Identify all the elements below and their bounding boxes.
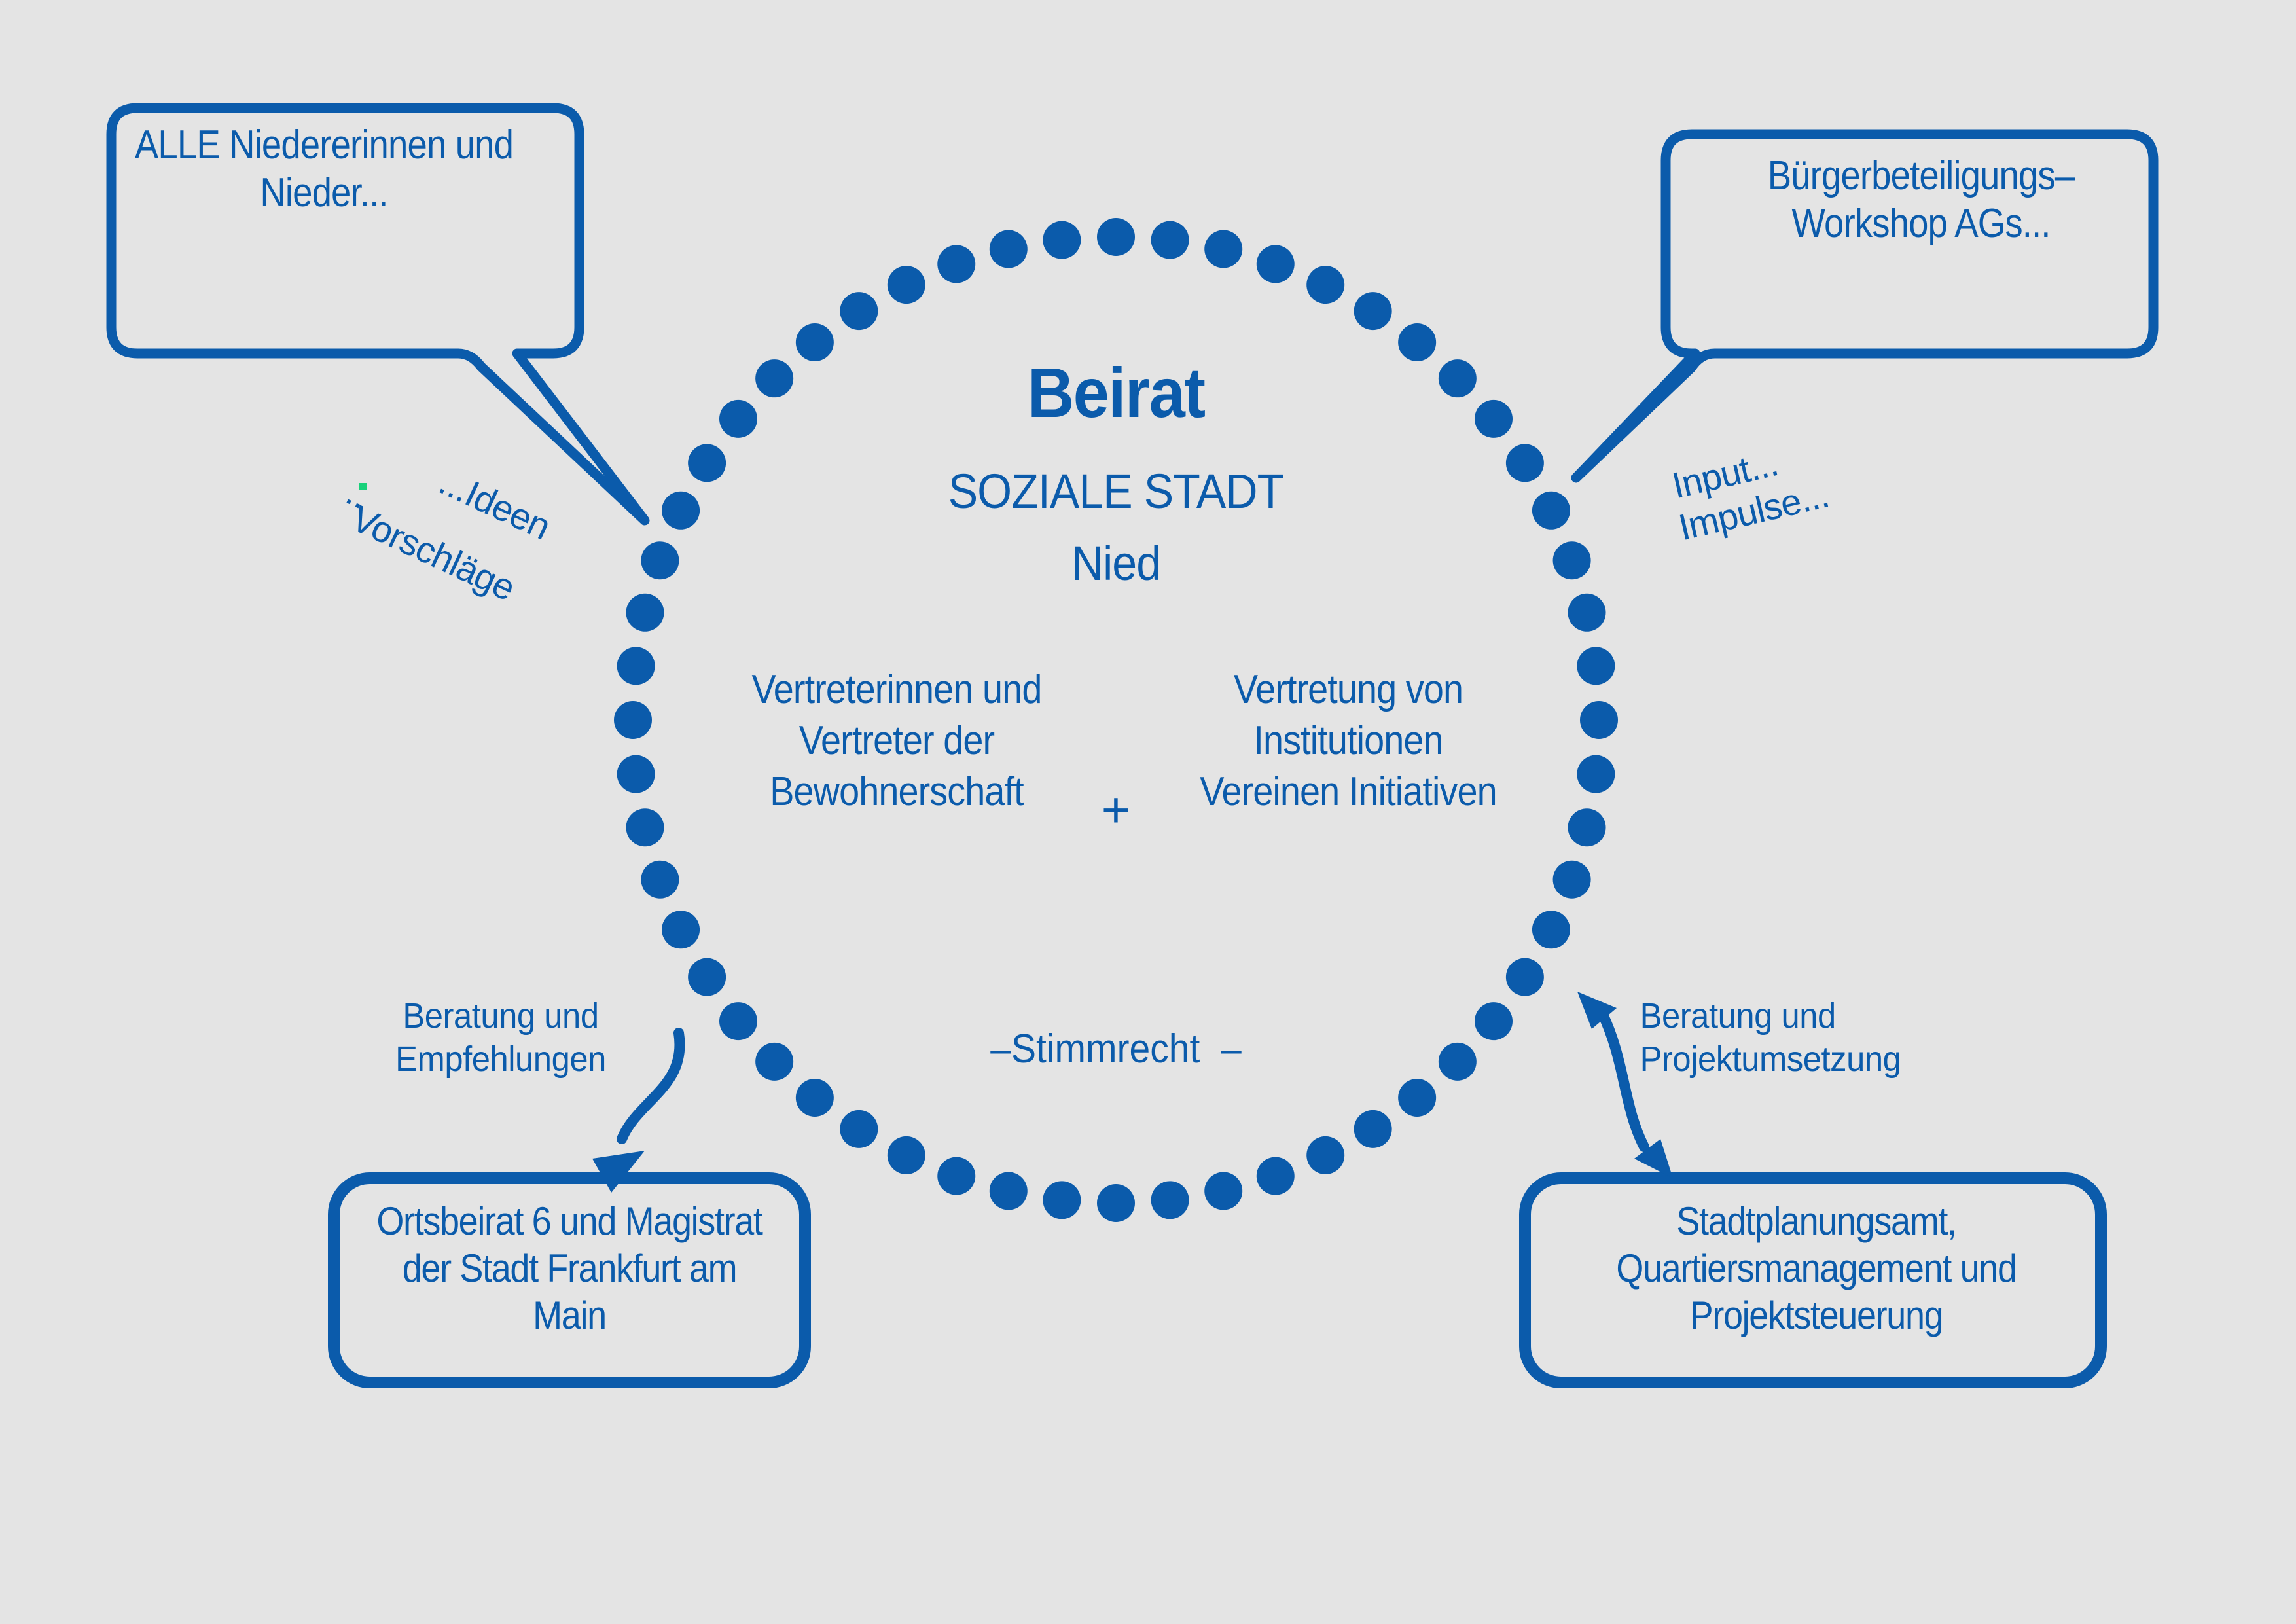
arrow-right-double xyxy=(1602,1013,1644,1147)
plus-sign: + xyxy=(1102,782,1130,838)
circle-dot xyxy=(888,1136,925,1174)
circle-dot xyxy=(614,701,652,739)
circle-dot xyxy=(990,230,1028,268)
center-title: Beirat xyxy=(1028,353,1205,433)
circle-dot xyxy=(641,861,679,899)
circle-dot xyxy=(755,359,793,397)
diagram-canvas: ALLE Niedererinnen und Nieder... Bürgerb… xyxy=(0,0,2296,1624)
circle-dot xyxy=(1506,444,1544,482)
circle-dot xyxy=(1439,359,1477,397)
circle-dot xyxy=(626,808,664,846)
circle-dot xyxy=(1151,221,1189,259)
circle-dot xyxy=(1577,647,1615,685)
circle-dot xyxy=(1568,808,1606,846)
circle-dot xyxy=(1439,1043,1477,1081)
speech-bubble-top-right-text: Bürgerbeteiligungs– Workshop AGs... xyxy=(1717,152,2126,247)
circle-dot xyxy=(1506,958,1544,996)
circle-dot xyxy=(1553,861,1591,899)
center-subtitle-line1: SOZIALE STADT xyxy=(948,465,1284,519)
circle-dot xyxy=(719,400,757,438)
circle-dot xyxy=(662,492,700,530)
circle-dot xyxy=(1257,245,1295,283)
circle-dot xyxy=(1532,911,1570,948)
circle-dot xyxy=(1580,701,1618,739)
circle-dot xyxy=(796,323,834,361)
box-bottom-right-text: Stadtplanungsamt, Quartiersmanagement un… xyxy=(1566,1198,2067,1339)
circle-dot xyxy=(1306,1136,1344,1174)
green-square-marker xyxy=(359,483,367,490)
circle-dot xyxy=(1398,1079,1436,1117)
circle-dot xyxy=(641,541,679,579)
center-subtitle-line2: Nied xyxy=(1071,537,1160,591)
circle-dot xyxy=(1043,1181,1081,1219)
circle-dot xyxy=(755,1043,793,1081)
circle-dot xyxy=(1475,1002,1513,1040)
circle-dot xyxy=(1553,541,1591,579)
circle-dot xyxy=(1475,400,1513,438)
circle-dot xyxy=(1354,1110,1392,1148)
arrowhead-left-down xyxy=(592,1151,645,1193)
circle-dot xyxy=(840,292,878,330)
arrowhead-right-up xyxy=(1577,992,1617,1029)
center-column-left: Vertreterinnen und Vertreter der Bewohne… xyxy=(714,664,1079,818)
circle-dot xyxy=(840,1110,878,1148)
circle-dot xyxy=(1398,323,1436,361)
arrowhead-right-down xyxy=(1634,1139,1673,1178)
circle-dot xyxy=(688,958,726,996)
circle-dot xyxy=(1306,266,1344,304)
circle-dot xyxy=(617,755,655,793)
circle-dot xyxy=(937,245,975,283)
circle-dot xyxy=(1043,221,1081,259)
annotation-beratung-empfehlungen: Beratung und Empfehlungen xyxy=(356,995,645,1081)
circle-dot xyxy=(1577,755,1615,793)
circle-dot xyxy=(1151,1181,1189,1219)
circle-dot xyxy=(1204,230,1242,268)
box-bottom-left-text: Ortsbeirat 6 und Magistrat der Stadt Fra… xyxy=(363,1198,776,1339)
speech-bubble-top-left-text: ALLE Niedererinnen und Nieder... xyxy=(120,121,529,217)
circle-dot xyxy=(1257,1157,1295,1195)
circle-dot xyxy=(1204,1172,1242,1210)
circle-dot xyxy=(617,647,655,685)
center-footer-stimmrecht: –Stimmrecht – xyxy=(990,1026,1242,1072)
circle-dot xyxy=(937,1157,975,1195)
circle-dot xyxy=(1568,594,1606,632)
annotation-beratung-projektumsetzung: Beratung und Projektumsetzung xyxy=(1640,995,1960,1081)
center-column-right: Vertretung von Institutionen Vereinen In… xyxy=(1189,664,1507,818)
circle-dot xyxy=(1532,492,1570,530)
circle-dot xyxy=(662,911,700,948)
circle-dot xyxy=(990,1172,1028,1210)
circle-dot xyxy=(719,1002,757,1040)
circle-dot xyxy=(1097,218,1135,256)
circle-dot xyxy=(796,1079,834,1117)
circle-dot xyxy=(626,594,664,632)
circle-dot xyxy=(1097,1184,1135,1222)
circle-dot xyxy=(688,444,726,482)
circle-dot xyxy=(888,266,925,304)
circle-dot xyxy=(1354,292,1392,330)
